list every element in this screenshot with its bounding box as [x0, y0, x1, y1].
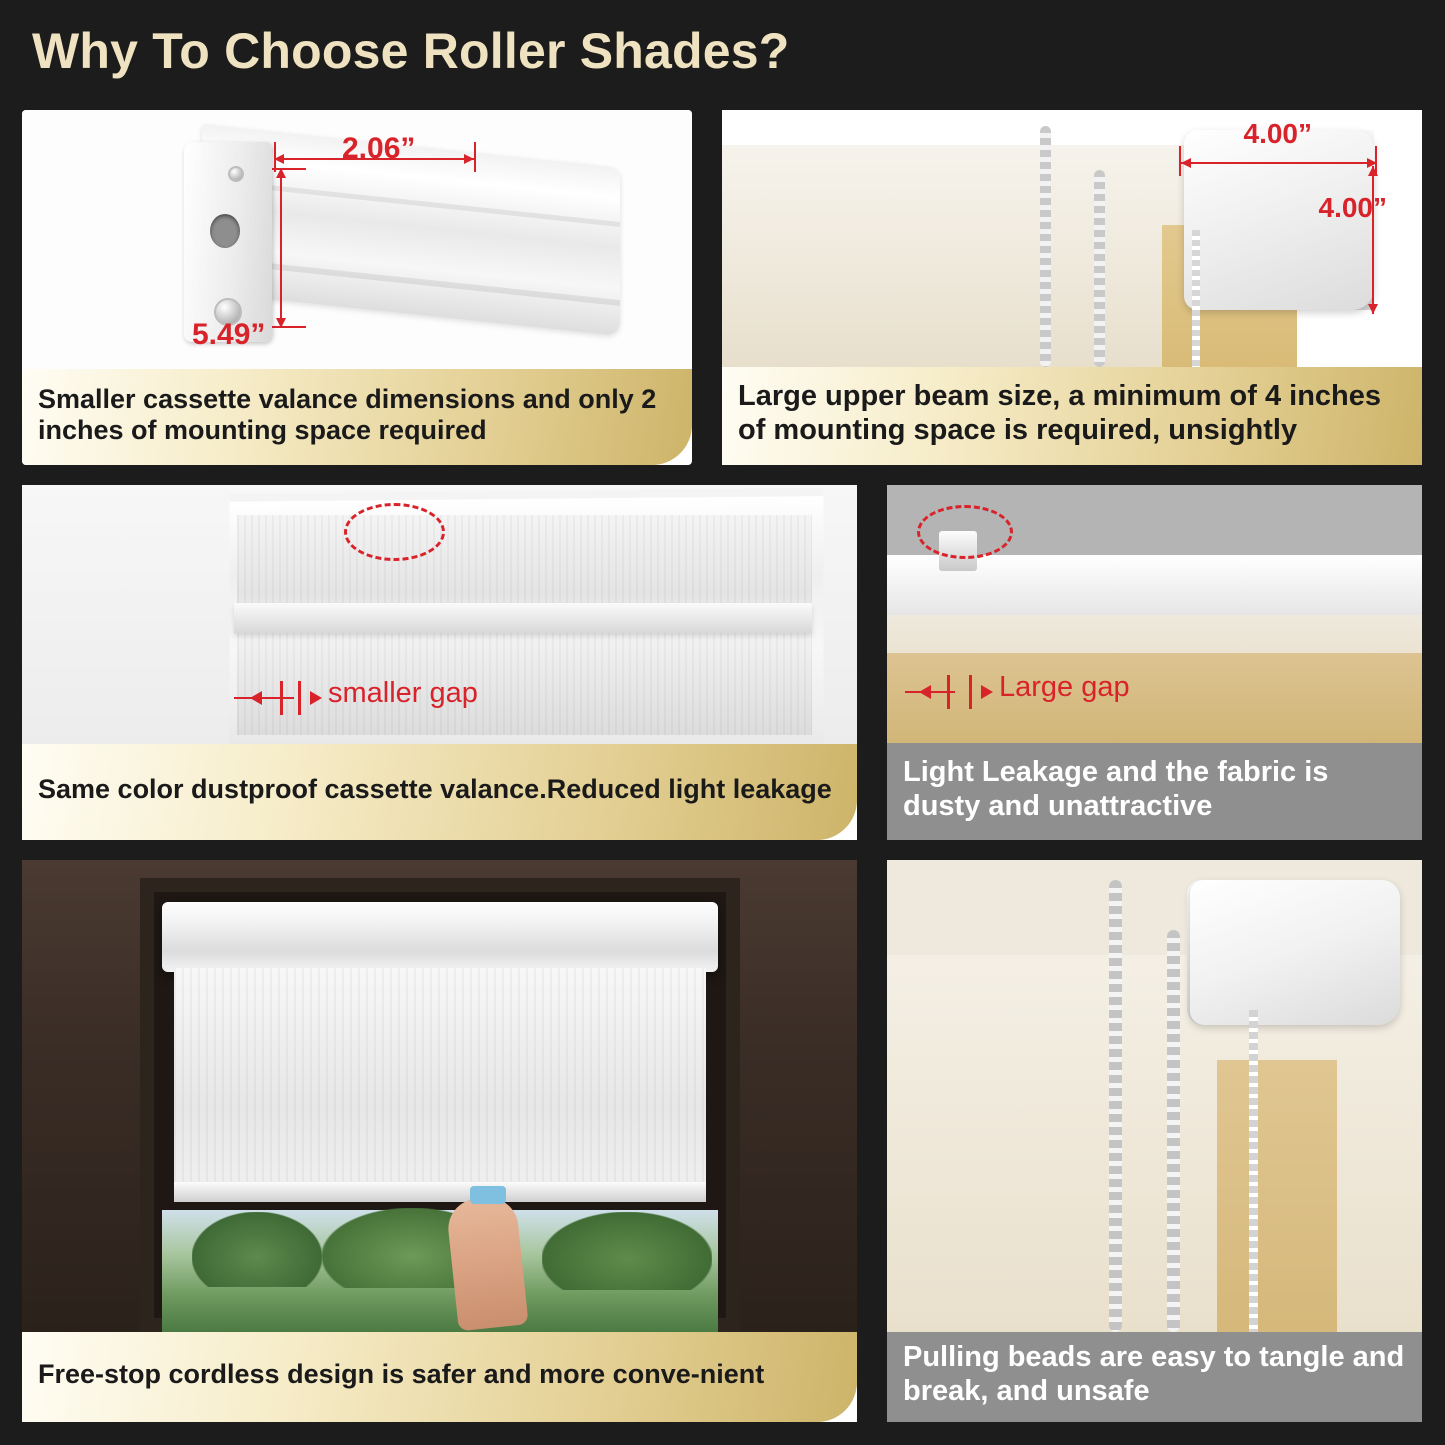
bead-chain	[1040, 126, 1051, 367]
gap-arrow-left	[234, 697, 294, 699]
gap-arrowhead-left	[919, 685, 931, 699]
infographic-page: Why To Choose Roller Shades? 2.06” 5.49”…	[0, 0, 1445, 1445]
width-dimension-label: 2.06”	[342, 132, 415, 166]
beam-height-label: 4.00”	[1319, 192, 1388, 224]
highlight-ellipse	[344, 503, 445, 561]
card-dustproof-cassette-valance: smaller gap Same color dustproof cassett…	[22, 485, 857, 840]
bead-chain	[1109, 880, 1122, 1332]
height-dimension-arrow	[280, 168, 282, 328]
card4-caption: Light Leakage and the fabric is dusty an…	[887, 743, 1422, 840]
shade-fabric-tan	[887, 653, 1422, 743]
card3-caption: Same color dustproof cassette valance.Re…	[22, 744, 857, 840]
card3-caption-text: Same color dustproof cassette valance.Re…	[38, 774, 841, 805]
valance-bracket	[184, 142, 272, 342]
bracket-hole	[210, 214, 240, 248]
card5-caption: Free-stop cordless design is safer and m…	[22, 1332, 857, 1422]
card5-caption-text: Free-stop cordless design is safer and m…	[38, 1359, 841, 1390]
shade-rail	[234, 603, 812, 633]
gap-arrowhead-right	[310, 691, 322, 705]
large-gap-label: Large gap	[999, 671, 1130, 704]
tree	[192, 1212, 322, 1287]
bracket-screw-small	[228, 166, 244, 182]
gap-arrowhead-right	[981, 685, 993, 699]
gap-tick-b	[969, 675, 972, 709]
shade-fabric-tan	[1217, 1060, 1337, 1332]
card-free-stop-cordless: Free-stop cordless design is safer and m…	[22, 860, 857, 1422]
card-cassette-valance-dimensions: 2.06” 5.49” Smaller cassette valance dim…	[22, 110, 692, 465]
card2-caption-text: Large upper beam size, a minimum of 4 in…	[738, 380, 1406, 447]
gap-tick-a	[280, 681, 283, 715]
card-pulling-beads: Pulling beads are easy to tangle and bre…	[887, 860, 1422, 1422]
shade-bottom-bar	[174, 1182, 706, 1202]
card1-caption: Smaller cassette valance dimensions and …	[22, 369, 692, 465]
smaller-gap-label: smaller gap	[328, 677, 478, 710]
card-light-leakage: Large gap Light Leakage and the fabric i…	[887, 485, 1422, 840]
card3-photo: smaller gap	[22, 485, 857, 750]
cassette-valance	[162, 902, 718, 972]
bead-chain-secondary	[1094, 170, 1105, 367]
card6-caption: Pulling beads are easy to tangle and bre…	[887, 1332, 1422, 1422]
gap-tick-b	[298, 681, 301, 715]
height-dimension-label: 5.49”	[192, 318, 265, 352]
width-tick-right	[474, 142, 476, 172]
card2-photo: 4.00” 4.00”	[722, 110, 1422, 367]
upper-beam	[1190, 880, 1400, 1025]
beam-width-label: 4.00”	[1244, 118, 1313, 150]
card4-caption-text: Light Leakage and the fabric is dusty an…	[903, 756, 1406, 823]
roller-shade	[174, 968, 706, 1198]
gap-arrowhead-left	[250, 691, 262, 705]
card2-caption: Large upper beam size, a minimum of 4 in…	[722, 367, 1422, 465]
cord	[1249, 1010, 1258, 1332]
cord	[1192, 230, 1200, 367]
gap-tick-a	[947, 675, 950, 709]
card1-photo: 2.06” 5.49”	[22, 110, 692, 375]
tree	[542, 1212, 712, 1290]
card6-photo	[887, 860, 1422, 1332]
card5-photo	[22, 860, 857, 1332]
beam-height-arrow	[1372, 166, 1374, 314]
page-title: Why To Choose Roller Shades?	[32, 22, 790, 80]
card6-caption-text: Pulling beads are easy to tangle and bre…	[903, 1341, 1406, 1408]
card4-photo: Large gap	[887, 485, 1422, 743]
card-large-upper-beam: 4.00” 4.00” Large upper beam size, a min…	[722, 110, 1422, 465]
bead-chain-secondary	[1167, 930, 1180, 1332]
beam-width-arrow	[1181, 162, 1377, 164]
shade-handle	[470, 1186, 506, 1204]
highlight-ellipse	[917, 505, 1013, 559]
card1-caption-text: Smaller cassette valance dimensions and …	[38, 384, 676, 447]
